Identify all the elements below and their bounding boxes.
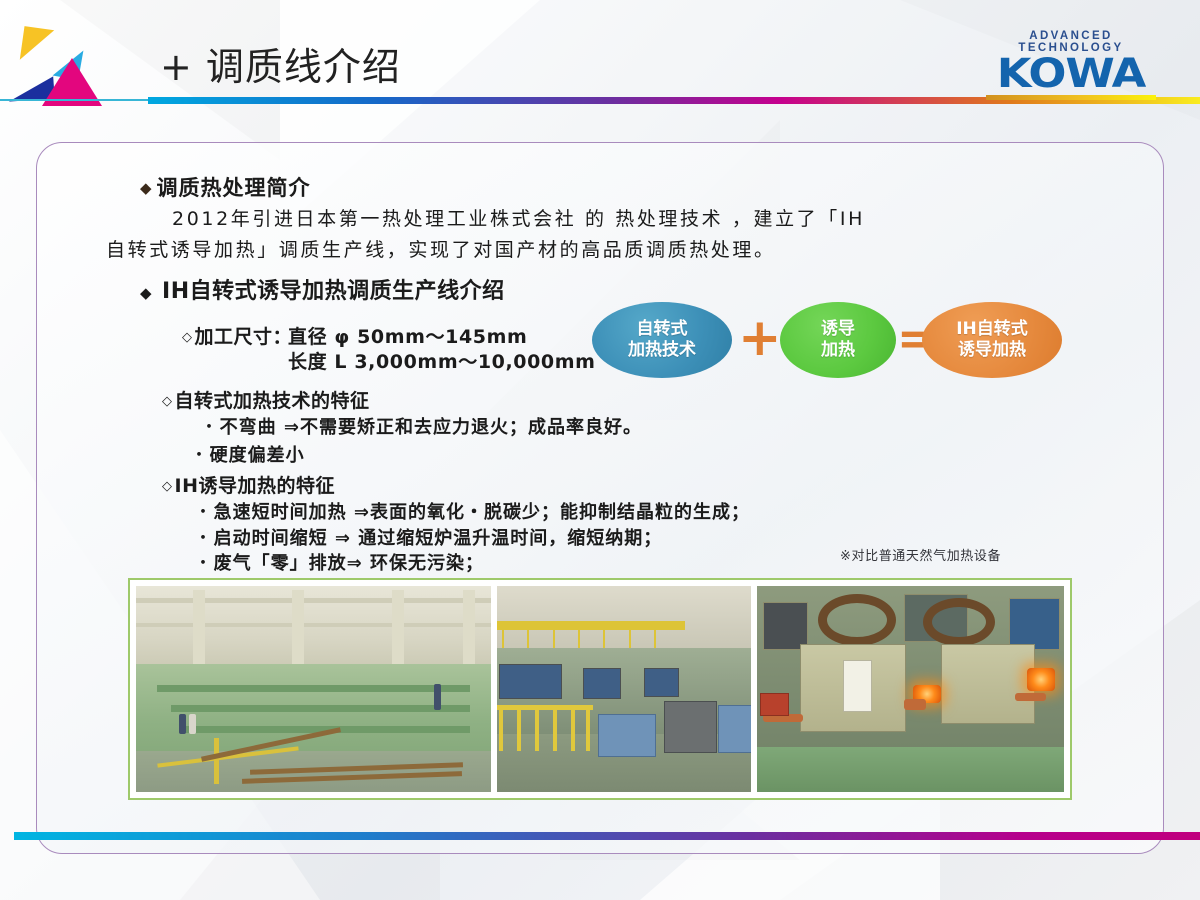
feature1-heading: ◇自转式加热技术的特征	[162, 386, 370, 413]
feature2-item-0: ・急速短时间加热 ⇒表面的氧化・脱碳少；能抑制结晶粒的生成；	[194, 498, 750, 524]
formula-term-result: IH自转式 诱导加热	[922, 302, 1062, 378]
dot-bullet-icon: ・	[200, 417, 220, 438]
dot-bullet-icon: ・	[194, 528, 214, 549]
photo-production-line: 调质生产线全景	[136, 586, 491, 792]
formula-term2-line2: 加热	[821, 340, 855, 361]
formula-term1-line2: 加热技术	[628, 340, 696, 361]
spec-line-2: 长度 L 3,000mm～10,000mm	[288, 347, 596, 374]
brand-logo: ADVANCED TECHNOLOGY KOWA	[986, 30, 1156, 100]
diamond-bullet-icon: ◆	[140, 179, 153, 197]
logo-wordmark: KOWA	[976, 55, 1166, 93]
diamond-bullet-icon: ◆	[140, 284, 152, 302]
feature2-heading: ◇IH诱导加热的特征	[162, 471, 335, 498]
plus-operator-icon: +	[738, 310, 782, 366]
page-title: + 调质线介绍	[160, 36, 401, 91]
section2-heading: ◆IH自转式诱导加热调质生产线介绍	[140, 273, 505, 305]
formula-term1-line1: 自转式	[637, 319, 688, 340]
section1-paragraph-line1: 2012年引进日本第一热处理工业株式会社 的 热处理技术 ，建立了「IH	[172, 205, 865, 234]
hollow-diamond-bullet-icon: ◇	[162, 394, 173, 409]
hollow-diamond-bullet-icon: ◇	[162, 479, 173, 494]
slide-root: + 调质线介绍 ADVANCED TECHNOLOGY KOWA ◆调质热处理简…	[0, 0, 1200, 900]
formula-term2-line1: 诱导	[821, 319, 855, 340]
hollow-diamond-bullet-icon: ◇	[182, 330, 193, 345]
dot-bullet-icon: ・	[194, 502, 214, 523]
photo-strip: 调质生产线全景 车间设备	[128, 578, 1072, 800]
spec-label: ◇加工尺寸：	[182, 322, 292, 349]
photo-workshop: 车间设备	[497, 586, 751, 792]
formula-term-rotation-heating: 自转式 加热技术	[592, 302, 732, 378]
header-rule-left	[0, 99, 152, 101]
footer-rule-gradient	[14, 832, 1200, 840]
footnote: ※对比普通天然气加热设备	[840, 545, 1001, 564]
dot-bullet-icon: ・	[190, 445, 210, 466]
feature2-item-2: ・废气「零」排放⇒ 环保无污染；	[194, 549, 484, 575]
formula-term3-line1: IH自转式	[956, 319, 1028, 340]
feature1-item-0: ・不弯曲 ⇒不需要矫正和去应力退火；成品率良好。	[200, 413, 642, 439]
feature2-item-1: ・启动时间缩短 ⇒ 通过缩短炉温升温时间，缩短纳期；	[194, 524, 662, 550]
section1-heading: ◆调质热处理简介	[140, 172, 311, 202]
formula-diagram: 自转式 加热技术 + 诱导 加热 = IH自转式 诱导加热	[592, 298, 1062, 380]
feature1-item-1: ・硬度偏差小	[190, 441, 305, 467]
spec-line-1: 直径 φ 50mm～145mm	[288, 322, 527, 349]
formula-term3-line2: 诱导加热	[958, 340, 1026, 361]
section1-paragraph-line2: 自转式诱导加热」调质生产线，实现了对国产材的高品质调质热处理。	[106, 236, 776, 265]
photo-induction-heater: IH诱导加热装置	[757, 586, 1064, 792]
dot-bullet-icon: ・	[194, 553, 214, 574]
formula-term-induction: 诱导 加热	[780, 302, 896, 378]
